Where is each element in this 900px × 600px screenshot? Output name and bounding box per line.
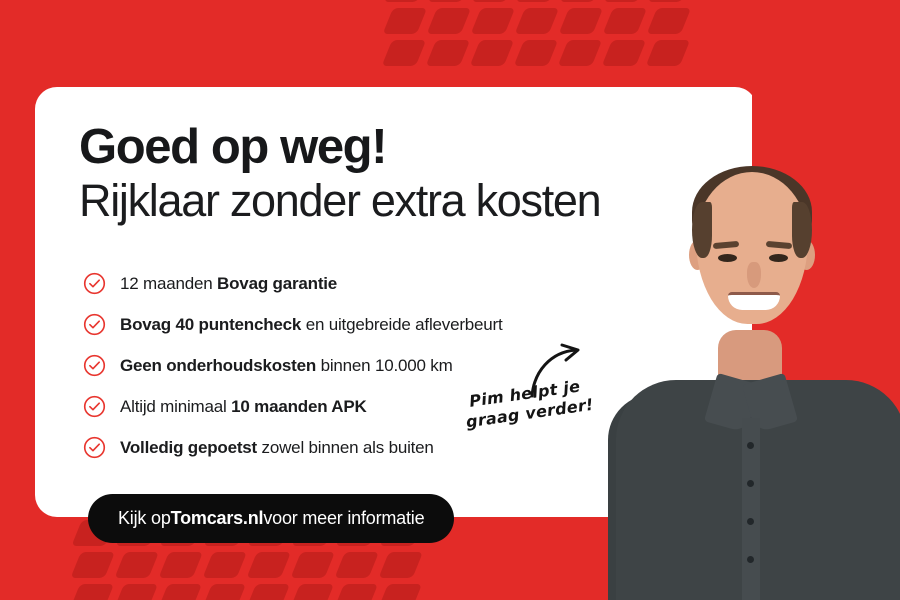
benefit-suffix: zowel binnen als buiten — [257, 438, 434, 457]
check-circle-icon — [83, 354, 106, 377]
benefit-suffix: binnen 10.000 km — [316, 356, 452, 375]
check-circle-icon — [83, 395, 106, 418]
list-item-label: Altijd minimaal 10 maanden APK — [120, 397, 367, 417]
promo-banner: Goed op weg! Rijklaar zonder extra koste… — [0, 0, 900, 600]
benefit-suffix: en uitgebreide afleverbeurt — [301, 315, 502, 334]
benefit-prefix: 12 maanden — [120, 274, 217, 293]
cta-button[interactable]: Kijk op Tomcars.nl voor meer informatie — [88, 494, 454, 543]
person-eye-right — [769, 254, 788, 262]
check-circle-icon — [83, 272, 106, 295]
cta-prefix: Kijk op — [118, 508, 171, 529]
list-item-label: 12 maanden Bovag garantie — [120, 274, 337, 294]
list-item: Bovag 40 puntencheck en uitgebreide afle… — [83, 304, 643, 345]
list-item: 12 maanden Bovag garantie — [83, 263, 643, 304]
person-hair-side-right — [792, 202, 812, 258]
list-item: Volledig gepoetst zowel binnen als buite… — [83, 427, 643, 468]
list-item-label: Volledig gepoetst zowel binnen als buite… — [120, 438, 434, 458]
page-subtitle: Rijklaar zonder extra kosten — [79, 177, 600, 225]
benefit-strong: Volledig gepoetst — [120, 438, 257, 457]
list-item-label: Bovag 40 puntencheck en uitgebreide afle… — [120, 315, 503, 335]
person-photo — [600, 150, 900, 600]
person-shirt-button — [747, 556, 754, 563]
benefit-strong: 10 maanden APK — [231, 397, 366, 416]
check-circle-icon — [83, 313, 106, 336]
person-nose — [747, 262, 761, 288]
benefit-strong: Bovag 40 puntencheck — [120, 315, 301, 334]
benefit-prefix: Altijd minimaal — [120, 397, 231, 416]
person-shirt-button — [747, 442, 754, 449]
cta-brand: Tomcars.nl — [171, 508, 264, 529]
list-item-label: Geen onderhoudskosten binnen 10.000 km — [120, 356, 453, 376]
check-circle-icon — [83, 436, 106, 459]
benefit-strong: Bovag garantie — [217, 274, 337, 293]
person-hair-side-left — [692, 202, 712, 258]
page-title: Goed op weg! — [79, 122, 386, 173]
person-eye-left — [718, 254, 737, 262]
person-shirt-button — [747, 480, 754, 487]
benefit-strong: Geen onderhoudskosten — [120, 356, 316, 375]
cta-suffix: voor meer informatie — [263, 508, 424, 529]
person-smile — [728, 292, 780, 310]
person-shirt-button — [747, 518, 754, 525]
